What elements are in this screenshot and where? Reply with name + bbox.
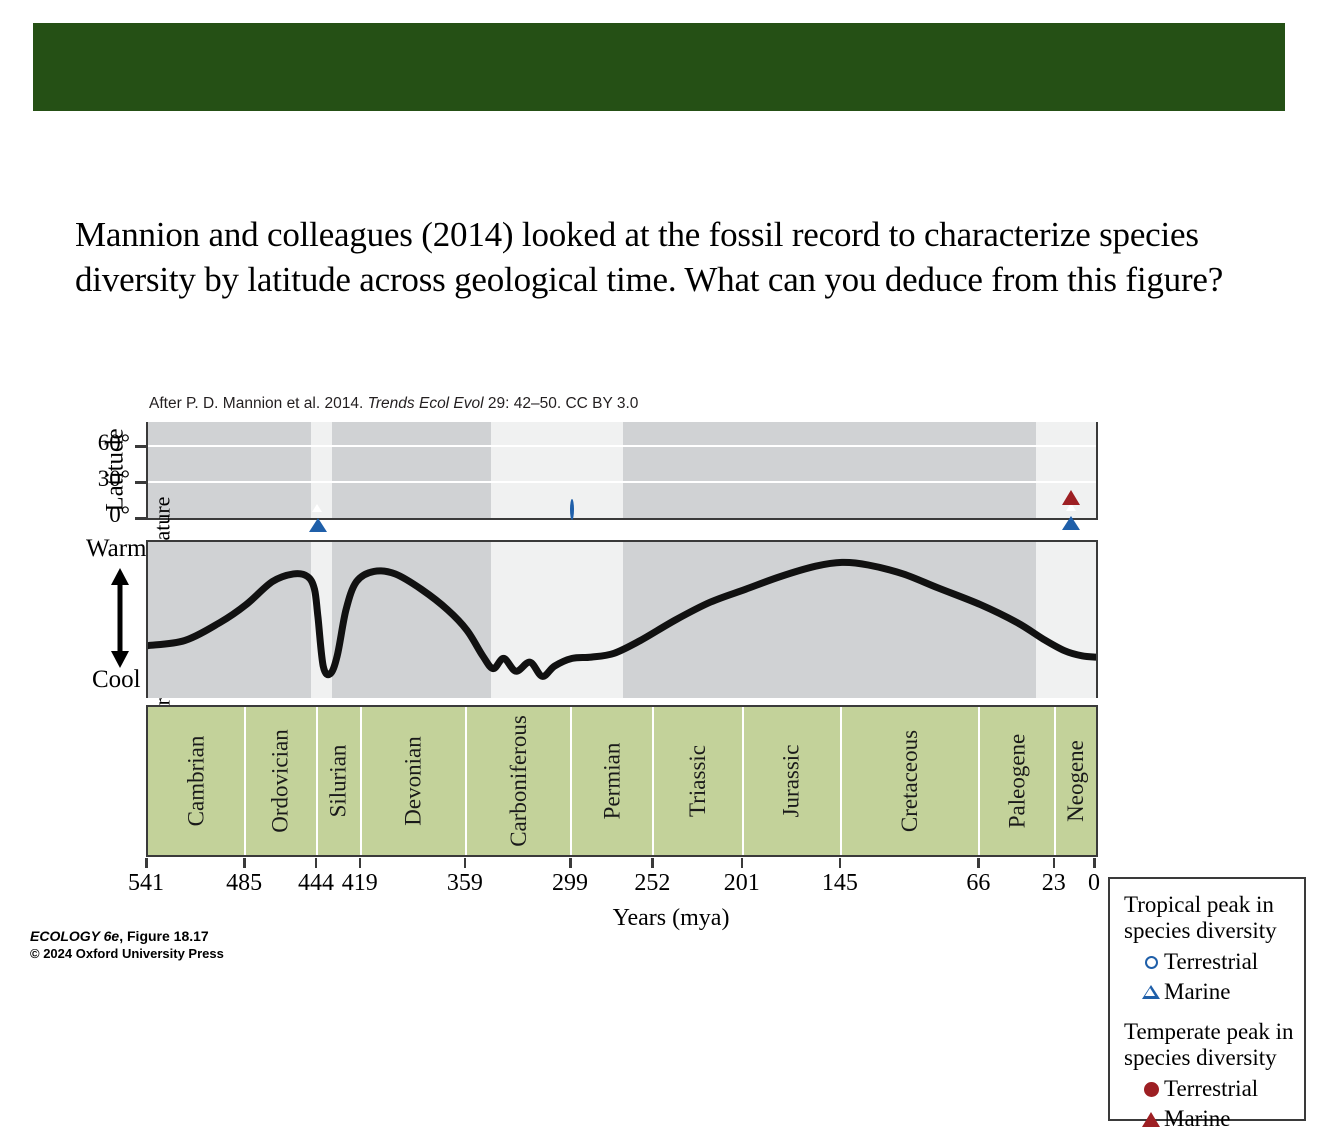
temperature-arrow-icon [108,568,132,668]
period-label: Permian [599,743,625,820]
x-axis-tick-label: 252 [634,870,670,897]
latitude-tick-label: 30° [72,466,130,492]
x-axis-tick [315,858,318,868]
circle-open-icon [1138,956,1164,969]
circle-filled-icon [1138,1082,1164,1097]
triangle-filled-icon [1138,1112,1164,1127]
period-label: Jurassic [779,745,805,818]
x-axis-tick-label: 23 [1042,870,1066,897]
geologic-period-strip: CambrianOrdovicianSilurianDevonianCarbon… [146,705,1098,857]
latitude-gridline [148,445,1096,447]
period-cell-carboniferous: Carboniferous [467,707,572,855]
period-cell-permian: Permian [572,707,654,855]
period-cell-triassic: Triassic [654,707,743,855]
x-axis-tick-label: 145 [822,870,858,897]
legend-label: Terrestrial [1164,1074,1258,1104]
x-axis-tick [741,858,744,868]
period-label: Neogene [1063,740,1089,822]
attribution-prefix: After P. D. Mannion et al. 2014. [149,395,368,412]
data-point-triangle-open [309,501,327,519]
period-cell-cretaceous: Cretaceous [842,707,980,855]
latitude-tick-label: 60° [72,430,130,456]
figure-container: After P. D. Mannion et al. 2014. Trends … [0,380,1342,940]
cool-label: Cool [92,666,141,694]
period-cell-silurian: Silurian [318,707,362,855]
figure-attribution: After P. D. Mannion et al. 2014. Trends … [149,395,638,413]
x-axis-tick-label: 0 [1088,870,1100,897]
x-axis-tick-label: 201 [724,870,760,897]
legend-item-tropical-terrestrial: Terrestrial [1138,947,1304,977]
x-axis-tick-label: 444 [298,870,334,897]
period-label: Triassic [685,745,711,817]
x-axis-tick-label: 541 [128,870,164,897]
footer-line-2: © 2024 Oxford University Press [30,945,224,962]
x-axis-tick-label: 66 [966,870,990,897]
page-title: Mannion and colleagues (2014) looked at … [75,212,1290,302]
period-cell-neogene: Neogene [1056,707,1096,855]
legend-tropical-heading: Tropical peak in species diversity [1124,892,1304,944]
legend-temperate-heading: Temperate peak in species diversity [1124,1019,1304,1071]
legend-item-temperate-terrestrial: Terrestrial [1138,1074,1304,1104]
period-label: Carboniferous [505,715,531,847]
legend-item-tropical-marine: Marine [1138,977,1304,1007]
warm-label: Warm [86,535,146,563]
legend-label: Marine [1164,977,1230,1007]
period-cell-jurassic: Jurassic [744,707,842,855]
x-axis-tick [145,858,148,868]
legend-spacer [1124,1007,1304,1019]
x-axis-tick [569,858,572,868]
period-label: Silurian [326,745,352,818]
temperature-curve [148,542,1096,698]
x-axis-tick [1053,858,1056,868]
x-axis-tick-label: 299 [552,870,588,897]
latitude-tick-label: 0° [72,502,130,528]
data-point-circle-open [570,501,574,519]
slide-header-bar [33,23,1285,111]
period-cell-devonian: Devonian [362,707,467,855]
attribution-journal: Trends Ecol Evol [368,395,484,412]
period-label: Ordovician [268,729,294,832]
x-axis-tick [359,858,362,868]
legend-item-temperate-marine: Marine [1138,1104,1304,1134]
x-axis-tick [243,858,246,868]
x-axis-tick-label: 419 [342,870,378,897]
x-axis-tick [651,858,654,868]
slide-footer: ECOLOGY 6e, Figure 18.17 © 2024 Oxford U… [30,928,224,962]
x-axis-tick [977,858,980,868]
attribution-suffix: 29: 42–50. CC BY 3.0 [484,395,639,412]
triangle-open-icon [1138,985,1164,999]
latitude-gridline [148,481,1096,483]
legend-label: Marine [1164,1104,1230,1134]
period-cell-paleogene: Paleogene [980,707,1055,855]
period-label: Paleogene [1004,734,1030,829]
climate-band-icehouse [491,422,622,518]
x-axis-tick [1093,858,1096,868]
period-cell-ordovician: Ordovician [246,707,318,855]
x-axis-tick [464,858,467,868]
period-label: Cretaceous [897,730,923,832]
period-label: Devonian [400,736,426,825]
latitude-tick [135,517,146,520]
period-label: Cambrian [183,736,209,827]
data-point-triangle-filled [1062,473,1080,491]
x-axis-tick-label: 359 [447,870,483,897]
footer-line-1: ECOLOGY 6e, Figure 18.17 [30,928,224,945]
period-cell-cambrian: Cambrian [148,707,246,855]
x-axis-tick-label: 485 [226,870,262,897]
latitude-plot-panel [146,422,1098,520]
latitude-tick [135,481,146,484]
temperature-plot-panel [146,540,1098,698]
legend-label: Terrestrial [1164,947,1258,977]
x-axis-tick [839,858,842,868]
latitude-tick [135,445,146,448]
chart-legend: Tropical peak in species diversity Terre… [1108,877,1306,1121]
